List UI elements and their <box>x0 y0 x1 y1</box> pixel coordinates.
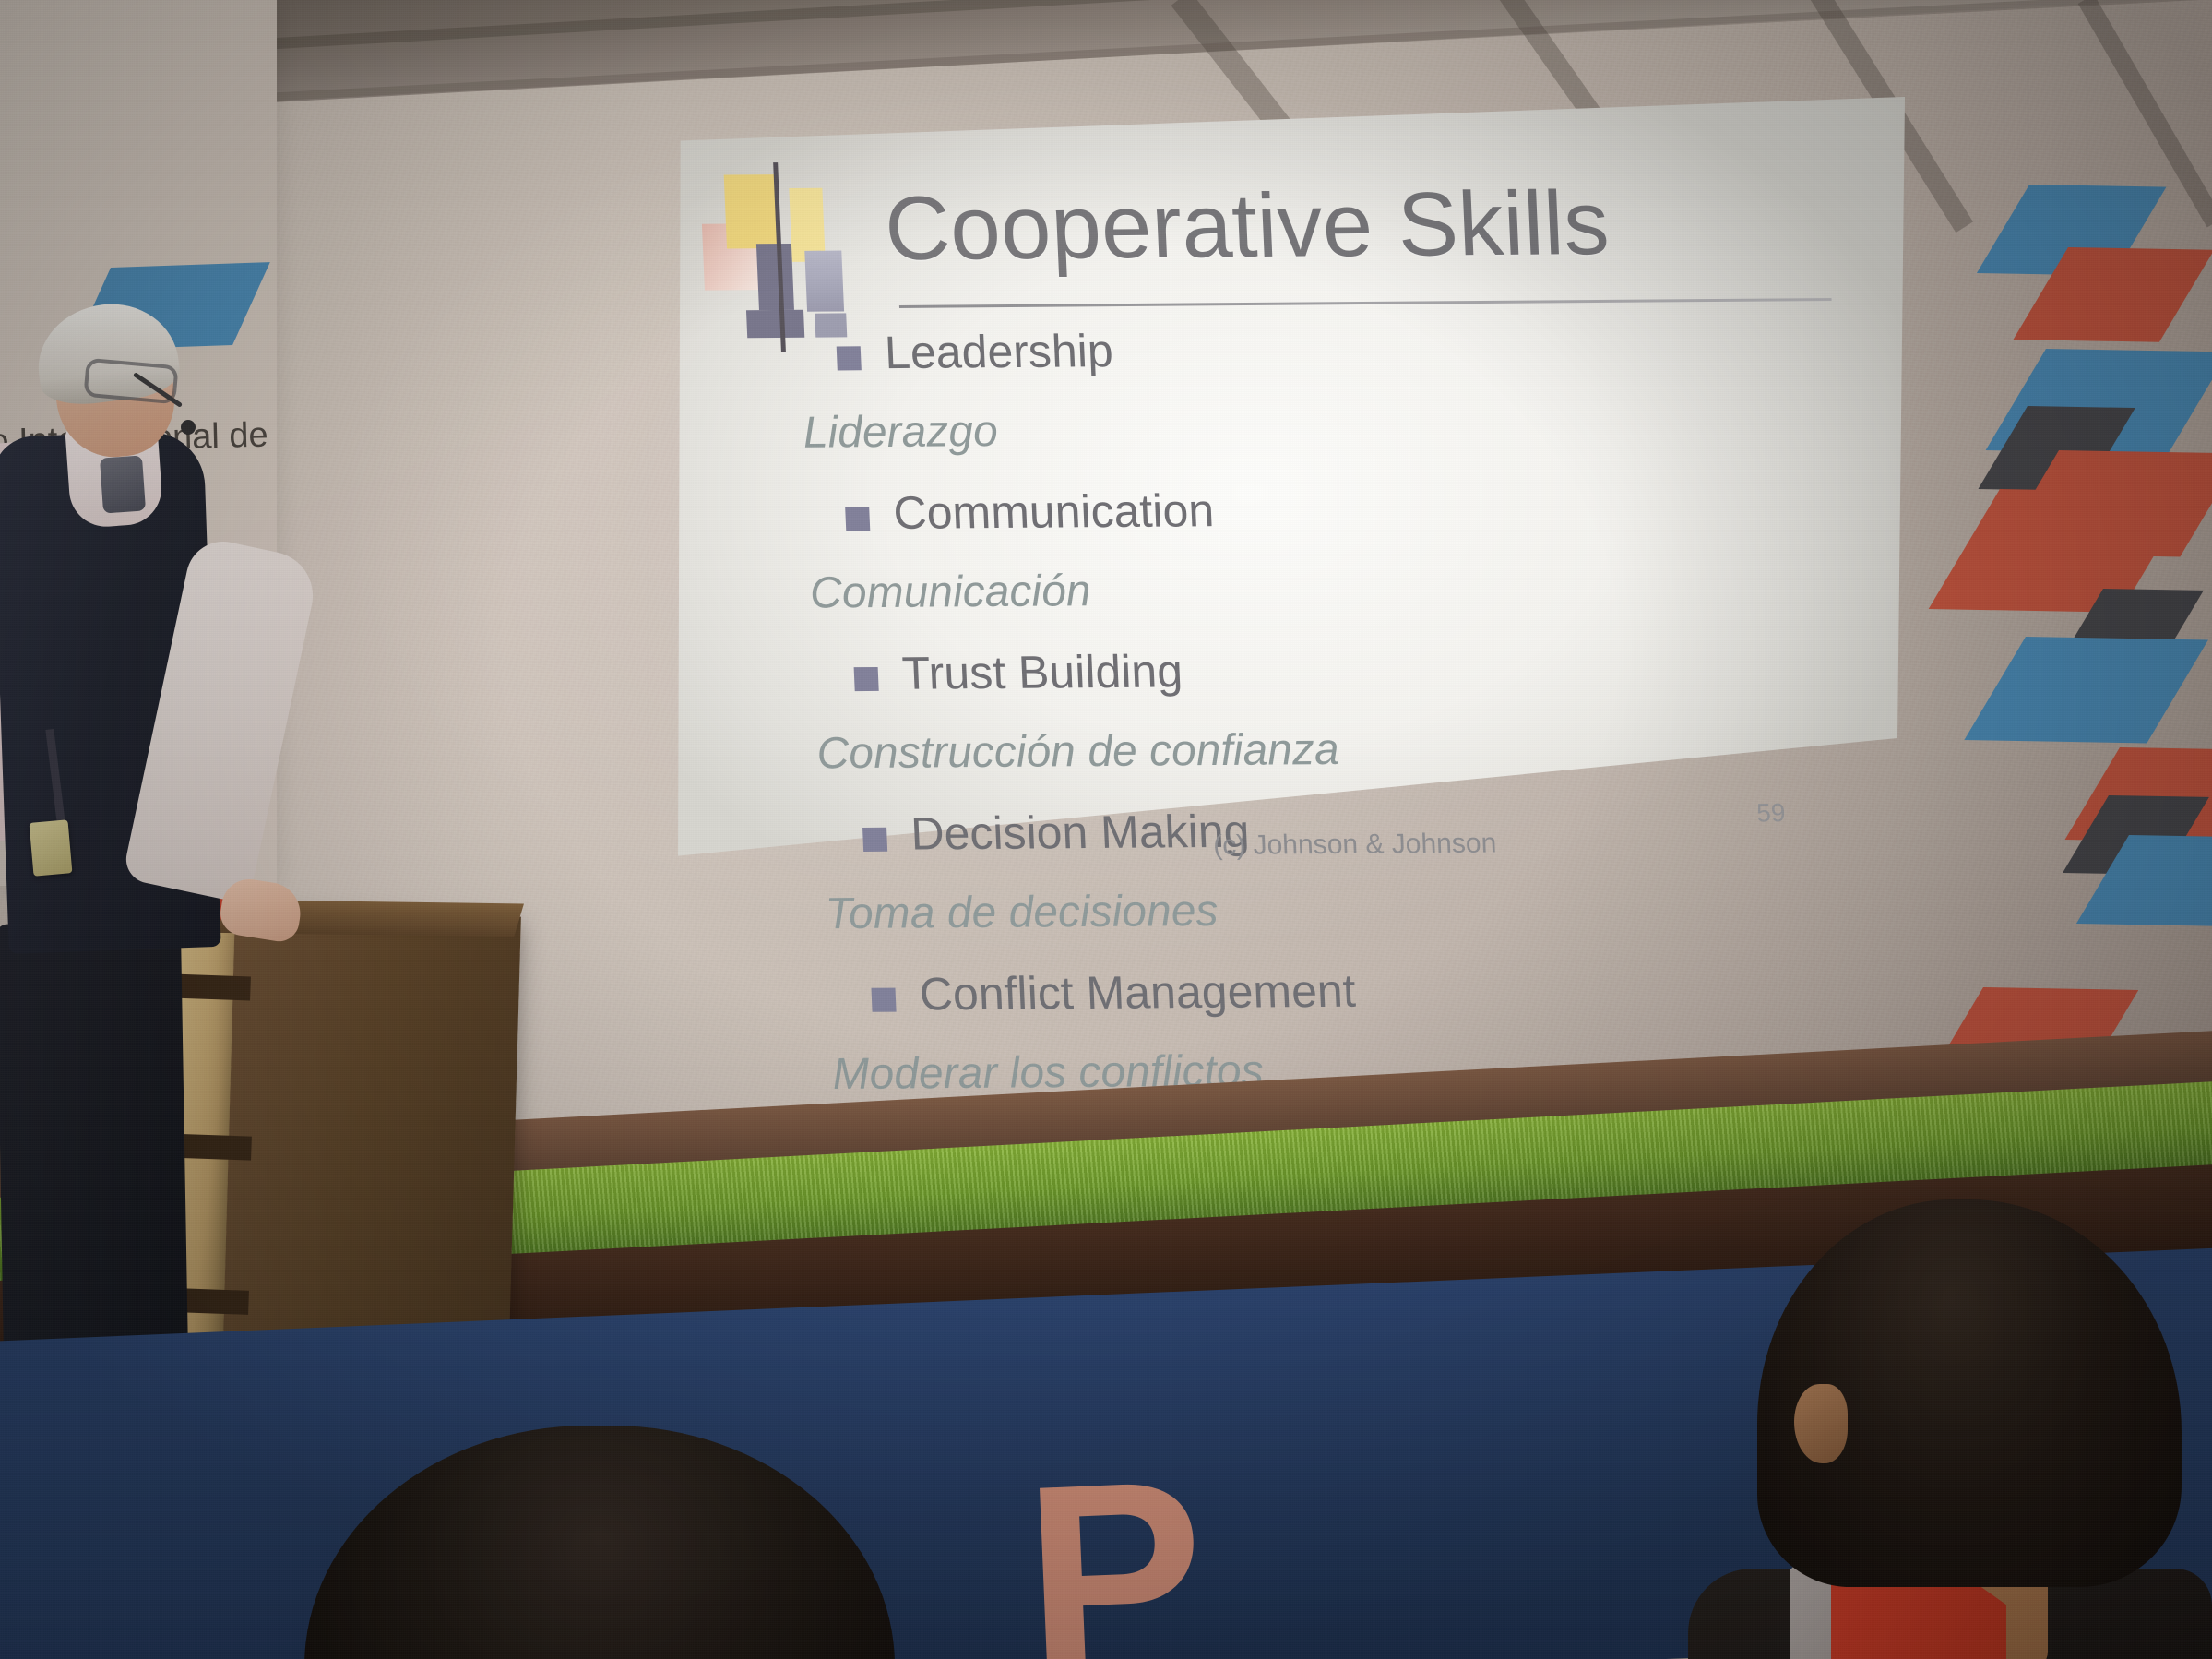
speaker-headset-mic-tip <box>181 420 196 435</box>
slide-logo-gray-block <box>804 251 844 312</box>
bullet-label-en: Decision Making <box>910 805 1251 861</box>
presentation-photo-scene: o Internacional de ogías Activas dizaj E… <box>0 0 2212 1659</box>
bullet-marker-icon <box>854 667 879 691</box>
bullet-label-en: Conflict Management <box>919 964 1357 1021</box>
list-item: Leadership Liderazgo <box>836 318 1870 327</box>
speaker-badge <box>30 819 73 876</box>
banner-letter: P <box>1019 1420 1210 1659</box>
speaker-tie <box>100 455 146 513</box>
bullet-marker-icon <box>862 828 887 852</box>
slide-title-divider <box>899 298 1832 308</box>
slide-logo-gray-block <box>746 310 804 338</box>
bullet-marker-icon <box>837 346 862 370</box>
bullet-label-en: Trust Building <box>901 644 1183 699</box>
bullet-label-es: Comunicación <box>809 566 1092 618</box>
slide-page-number: 59 <box>1756 798 1787 828</box>
bullet-label-es: Toma de decisiones <box>825 886 1219 939</box>
bullet-label-en: Leadership <box>884 324 1114 379</box>
slide-logo-yellow-block <box>724 174 779 248</box>
slide-logo-gray-block <box>815 313 847 337</box>
slide-logo-gray-block <box>756 244 794 310</box>
slide-bullet-list: Leadership Liderazgo Communication Comun… <box>836 318 1870 327</box>
bullet-marker-icon <box>845 507 870 531</box>
bullet-label-en: Communication <box>892 483 1215 540</box>
slide: Cooperative Skills Leadership Liderazgo … <box>678 97 1905 1140</box>
bullet-marker-icon <box>871 988 896 1012</box>
slide-title: Cooperative Skills <box>883 171 1611 280</box>
speaker-legs <box>0 921 188 1367</box>
bullet-label-es: Liderazgo <box>803 406 999 459</box>
bullet-label-es: Construcción de confianza <box>815 724 1339 779</box>
slide-logo <box>699 169 880 299</box>
audience-ear-right <box>1794 1384 1848 1463</box>
slide-credit: (c) Johnson & Johnson <box>1213 829 1497 862</box>
